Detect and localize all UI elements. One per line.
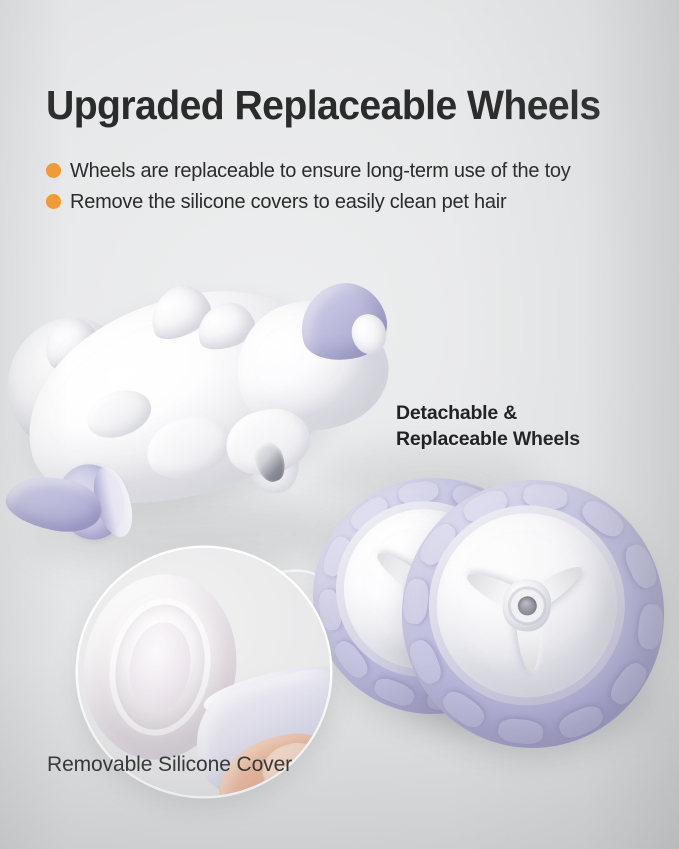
product-feature-poster: Upgraded Replaceable Wheels Wheels are r… (0, 0, 679, 849)
product-photo (0, 250, 679, 780)
bullet-label: Wheels are replaceable to ensure long-te… (70, 158, 571, 184)
list-item: Remove the silicone covers to easily cle… (46, 186, 666, 217)
callout-detachable-line1: Detachable & (396, 401, 580, 427)
bullet-label: Remove the silicone covers to easily cle… (70, 189, 506, 215)
white-pet-toy-body (0, 260, 410, 550)
feature-bullet-list: Wheels are replaceable to ensure long-te… (46, 155, 666, 217)
callout-detachable-wheels: Detachable & Replaceable Wheels (396, 401, 580, 452)
list-item: Wheels are replaceable to ensure long-te… (46, 155, 666, 186)
wheel-front-spokes (428, 504, 626, 706)
orange-dot-bullet-icon (46, 194, 61, 209)
page-title: Upgraded Replaceable Wheels (46, 80, 629, 130)
orange-dot-bullet-icon (46, 163, 61, 178)
callout-detachable-line2: Replaceable Wheels (396, 427, 580, 453)
callout-removable-silicone-cover: Removable Silicone Cover (47, 751, 292, 779)
